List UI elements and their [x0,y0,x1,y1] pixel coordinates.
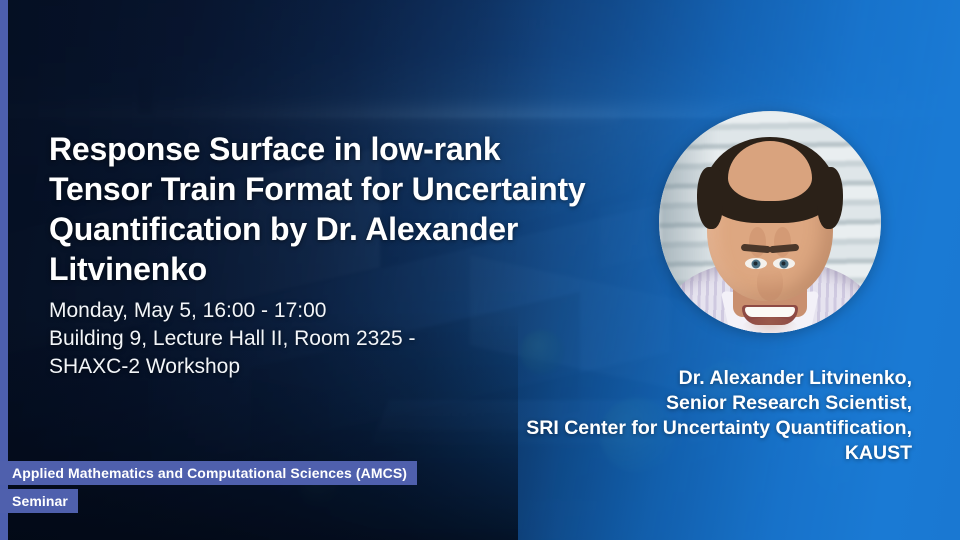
speaker-portrait [659,111,881,333]
speaker-credit: Dr. Alexander Litvinenko, Senior Researc… [492,366,912,466]
banner-event-type: Seminar [0,489,78,513]
portrait-eyebrow-right [741,244,771,254]
portrait-iris-right [752,259,761,268]
portrait-nose [757,267,783,301]
portrait-iris-left [780,259,789,268]
seminar-details: Monday, May 5, 16:00 - 17:00 Building 9,… [49,297,469,381]
portrait-eyebrow-left [769,244,799,254]
seminar-announcement-slide: Response Surface in low-rank Tensor Trai… [0,0,960,540]
portrait-teeth [745,307,795,317]
portrait-hair-side-left [697,167,723,229]
left-accent-strip [0,0,8,540]
banner-department: Applied Mathematics and Computational Sc… [0,461,417,485]
portrait-hair-side-right [817,167,843,229]
seminar-title: Response Surface in low-rank Tensor Trai… [49,129,609,289]
